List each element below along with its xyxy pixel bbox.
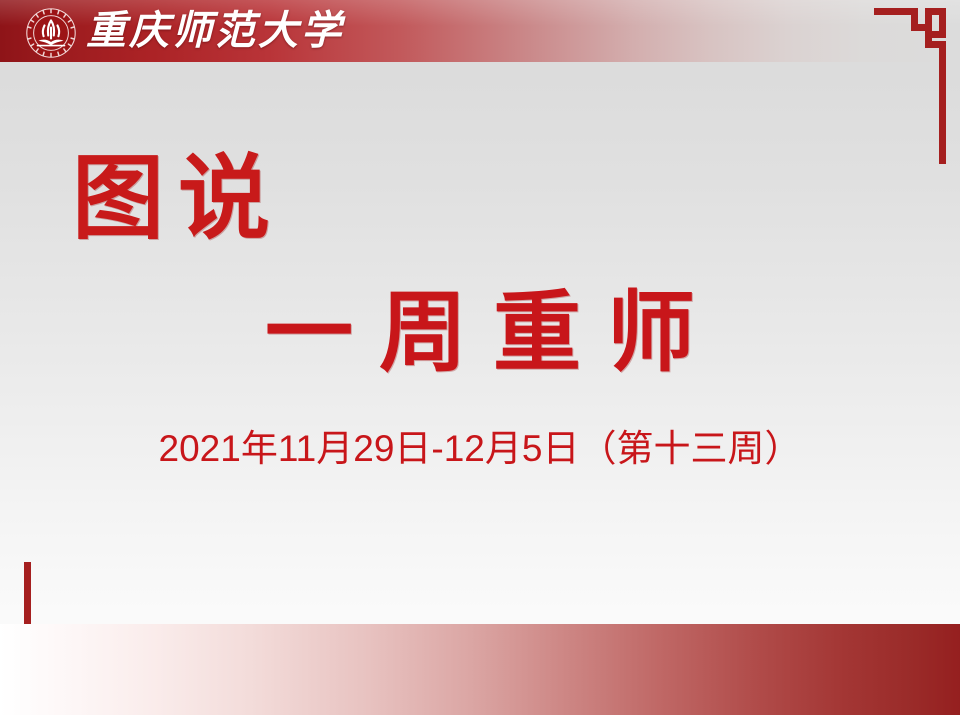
chinese-corner-ornament-icon-top-right xyxy=(874,8,946,164)
slide-footer-band xyxy=(0,624,960,720)
date-range-subtitle: 2021年11月29日-12月5日（第十三周） xyxy=(0,418,960,472)
slide-bottom-edge xyxy=(0,715,960,720)
university-name: 重庆师范大学 xyxy=(86,3,344,59)
slide-header-band: 重庆师范大学 xyxy=(0,0,960,62)
page-title-primary: 图说 xyxy=(72,124,284,257)
page-title-secondary: 一周重师 xyxy=(0,262,960,389)
presentation-slide: 重庆师范大学 图说 xyxy=(0,0,960,720)
university-seal-icon xyxy=(25,7,77,59)
